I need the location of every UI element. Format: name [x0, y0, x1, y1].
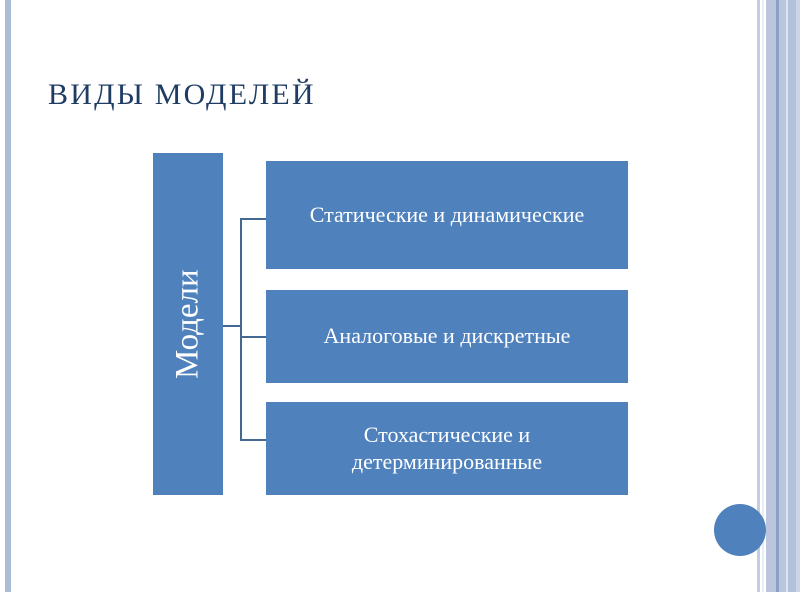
connector-trunk — [240, 218, 242, 440]
diagram-child-node-stochastic-deterministic[interactable]: Стохастические и детерминированные — [266, 402, 628, 495]
connector-root-stub — [223, 325, 241, 327]
diagram-child-label: Стохастические и детерминированные — [280, 422, 614, 476]
diagram-child-label: Статические и динамические — [310, 202, 585, 229]
connector-branch-1 — [240, 218, 267, 220]
hierarchy-diagram: Модели Статические и динамические Аналог… — [0, 0, 800, 600]
diagram-child-node-analog-discrete[interactable]: Аналоговые и дискретные — [266, 290, 628, 383]
diagram-root-label: Модели — [168, 269, 208, 379]
connector-branch-3 — [240, 439, 267, 441]
diagram-child-node-static-dynamic[interactable]: Статические и динамические — [266, 161, 628, 269]
connector-branch-2 — [240, 336, 267, 338]
diagram-root-node[interactable]: Модели — [153, 153, 223, 495]
accent-circle — [714, 504, 766, 556]
diagram-child-label: Аналоговые и дискретные — [324, 323, 571, 350]
slide-canvas: ВИДЫ МОДЕЛЕЙ Модели Статические и динами… — [0, 0, 800, 600]
